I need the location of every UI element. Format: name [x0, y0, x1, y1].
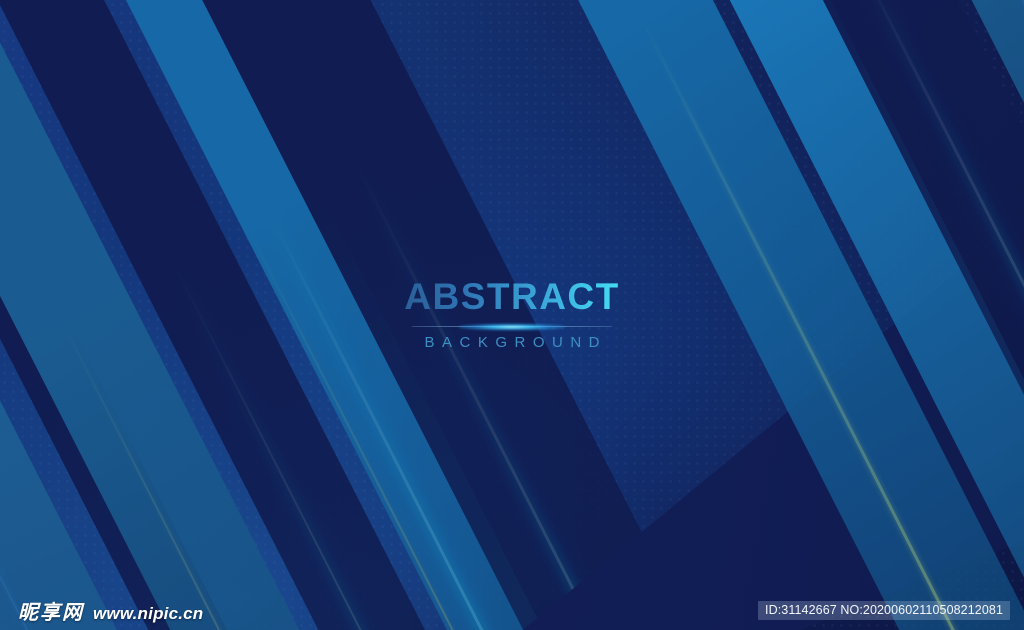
abstract-background-canvas: ABSTRACT BACKGROUND 昵享网 www.nipic.cn ID:…: [0, 0, 1024, 630]
diagonal-band-group-bottom-right: [0, 0, 1024, 630]
